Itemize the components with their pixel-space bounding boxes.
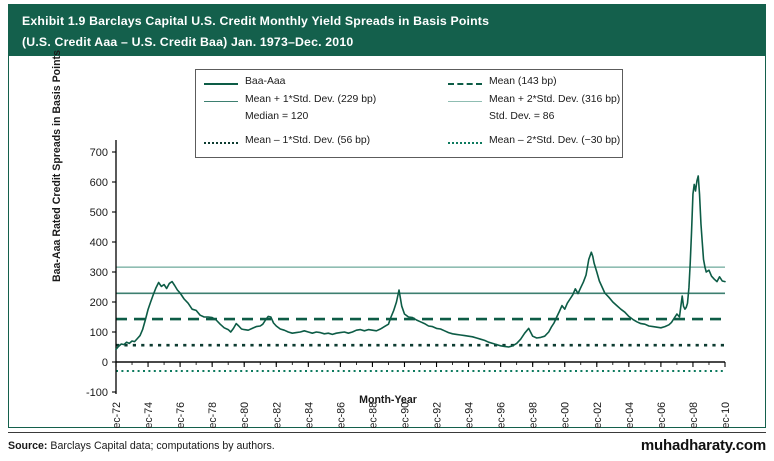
legend-label: Mean + 2*Std. Dev. (316 bp) bbox=[489, 93, 620, 108]
footer: Source: Barclays Capital data; computati… bbox=[0, 432, 774, 461]
exhibit-number: Exhibit 1.9 bbox=[22, 14, 85, 28]
x-axis-tick-label: Dec-00 bbox=[560, 402, 572, 428]
x-axis-tick-label: Dec-72 bbox=[111, 402, 123, 428]
legend-column-right: Mean (143 bp) Mean + 2*Std. Dev. (316 bp… bbox=[448, 75, 622, 151]
legend-column-left: Baa-Aaa Mean + 1*Std. Dev. (229 bp) Medi… bbox=[204, 75, 446, 151]
legend-item: Mean + 1*Std. Dev. (229 bp) bbox=[204, 93, 446, 108]
legend-swatch-mean-minus-1sd-line-icon bbox=[204, 138, 238, 150]
legend-swatch-mean-plus-1sd-line-icon bbox=[204, 97, 238, 109]
x-axis-tick-label: Dec-80 bbox=[239, 402, 251, 428]
y-axis-tick-label: 600 bbox=[90, 177, 108, 189]
legend-swatch-baa-aaa-line-icon bbox=[204, 79, 238, 91]
y-axis-tick-label: 500 bbox=[90, 207, 108, 219]
x-axis-tick-label: Dec-88 bbox=[367, 402, 379, 428]
y-axis-tick-label: -100 bbox=[86, 387, 108, 399]
legend-label: Mean – 2*Std. Dev. (−30 bp) bbox=[489, 134, 620, 149]
legend-stddev-note: Std. Dev. = 86 bbox=[489, 110, 622, 125]
watermark: muhadharaty.com bbox=[641, 437, 766, 454]
legend-median-note: Median = 120 bbox=[245, 110, 446, 125]
x-axis-tick-label: Dec-96 bbox=[496, 402, 508, 428]
x-axis-tick-label: Dec-94 bbox=[464, 402, 476, 428]
y-axis-tick-label: 200 bbox=[90, 297, 108, 309]
exhibit-header-band: Exhibit 1.9 Barclays Capital U.S. Credit… bbox=[8, 4, 766, 56]
legend-item: Baa-Aaa bbox=[204, 75, 446, 90]
y-axis-tick-label: 700 bbox=[90, 147, 108, 159]
legend-label: Mean + 1*Std. Dev. (229 bp) bbox=[245, 93, 376, 108]
source-text: Barclays Capital data; computations by a… bbox=[47, 440, 274, 452]
x-axis-tick-label: Dec-10 bbox=[720, 402, 732, 428]
legend-swatch-mean-line-icon bbox=[448, 79, 482, 91]
legend-item: Mean + 2*Std. Dev. (316 bp) bbox=[448, 93, 622, 108]
x-axis-tick-label: Dec-92 bbox=[432, 402, 444, 428]
legend-item: Mean – 1*Std. Dev. (56 bp) bbox=[204, 134, 446, 149]
chart-legend: Baa-Aaa Mean + 1*Std. Dev. (229 bp) Medi… bbox=[195, 69, 623, 158]
x-axis-tick-label: Dec-86 bbox=[335, 402, 347, 428]
source-note: Source: Barclays Capital data; computati… bbox=[8, 440, 275, 452]
legend-label: Mean (143 bp) bbox=[489, 75, 557, 90]
y-axis-tick-label: 0 bbox=[102, 357, 108, 369]
exhibit-title-line: Exhibit 1.9 Barclays Capital U.S. Credit… bbox=[22, 11, 752, 32]
exhibit-subtitle: (U.S. Credit Aaa – U.S. Credit Baa) Jan.… bbox=[22, 32, 752, 53]
x-axis-tick-label: Dec-04 bbox=[624, 402, 636, 428]
x-axis-tick-label: Dec-90 bbox=[399, 402, 411, 428]
y-axis-tick-label: 400 bbox=[90, 237, 108, 249]
chart-page: Exhibit 1.9 Barclays Capital U.S. Credit… bbox=[0, 0, 774, 461]
y-axis-tick-label: 100 bbox=[90, 327, 108, 339]
legend-label: Mean – 1*Std. Dev. (56 bp) bbox=[245, 134, 370, 149]
data-series-baa-aaa bbox=[116, 176, 725, 349]
x-axis-tick-label: Dec-98 bbox=[528, 402, 540, 428]
exhibit-title-text: Barclays Capital U.S. Credit Monthly Yie… bbox=[85, 14, 489, 28]
x-axis-tick-label: Dec-76 bbox=[175, 402, 187, 428]
legend-swatch-mean-plus-2sd-line-icon bbox=[448, 97, 482, 109]
chart-frame: Baa-Aaa Rated Credit Spreads in Basis Po… bbox=[8, 56, 766, 428]
legend-label: Baa-Aaa bbox=[245, 75, 285, 90]
x-axis-tick-label: Dec-08 bbox=[688, 402, 700, 428]
y-axis-tick-label: 300 bbox=[90, 267, 108, 279]
source-label: Source: bbox=[8, 440, 47, 452]
x-axis-tick-label: Dec-74 bbox=[143, 402, 155, 428]
x-axis-tick-label: Dec-84 bbox=[303, 402, 315, 428]
legend-swatch-mean-minus-2sd-line-icon bbox=[448, 138, 482, 150]
x-axis-tick-label: Dec-78 bbox=[207, 402, 219, 428]
x-axis-tick-label: Dec-02 bbox=[592, 402, 604, 428]
legend-item: Mean (143 bp) bbox=[448, 75, 622, 90]
legend-item: Mean – 2*Std. Dev. (−30 bp) bbox=[448, 134, 622, 149]
footer-divider bbox=[8, 432, 766, 433]
x-axis-tick-label: Dec-82 bbox=[271, 402, 283, 428]
x-axis-tick-label: Dec-06 bbox=[656, 402, 668, 428]
